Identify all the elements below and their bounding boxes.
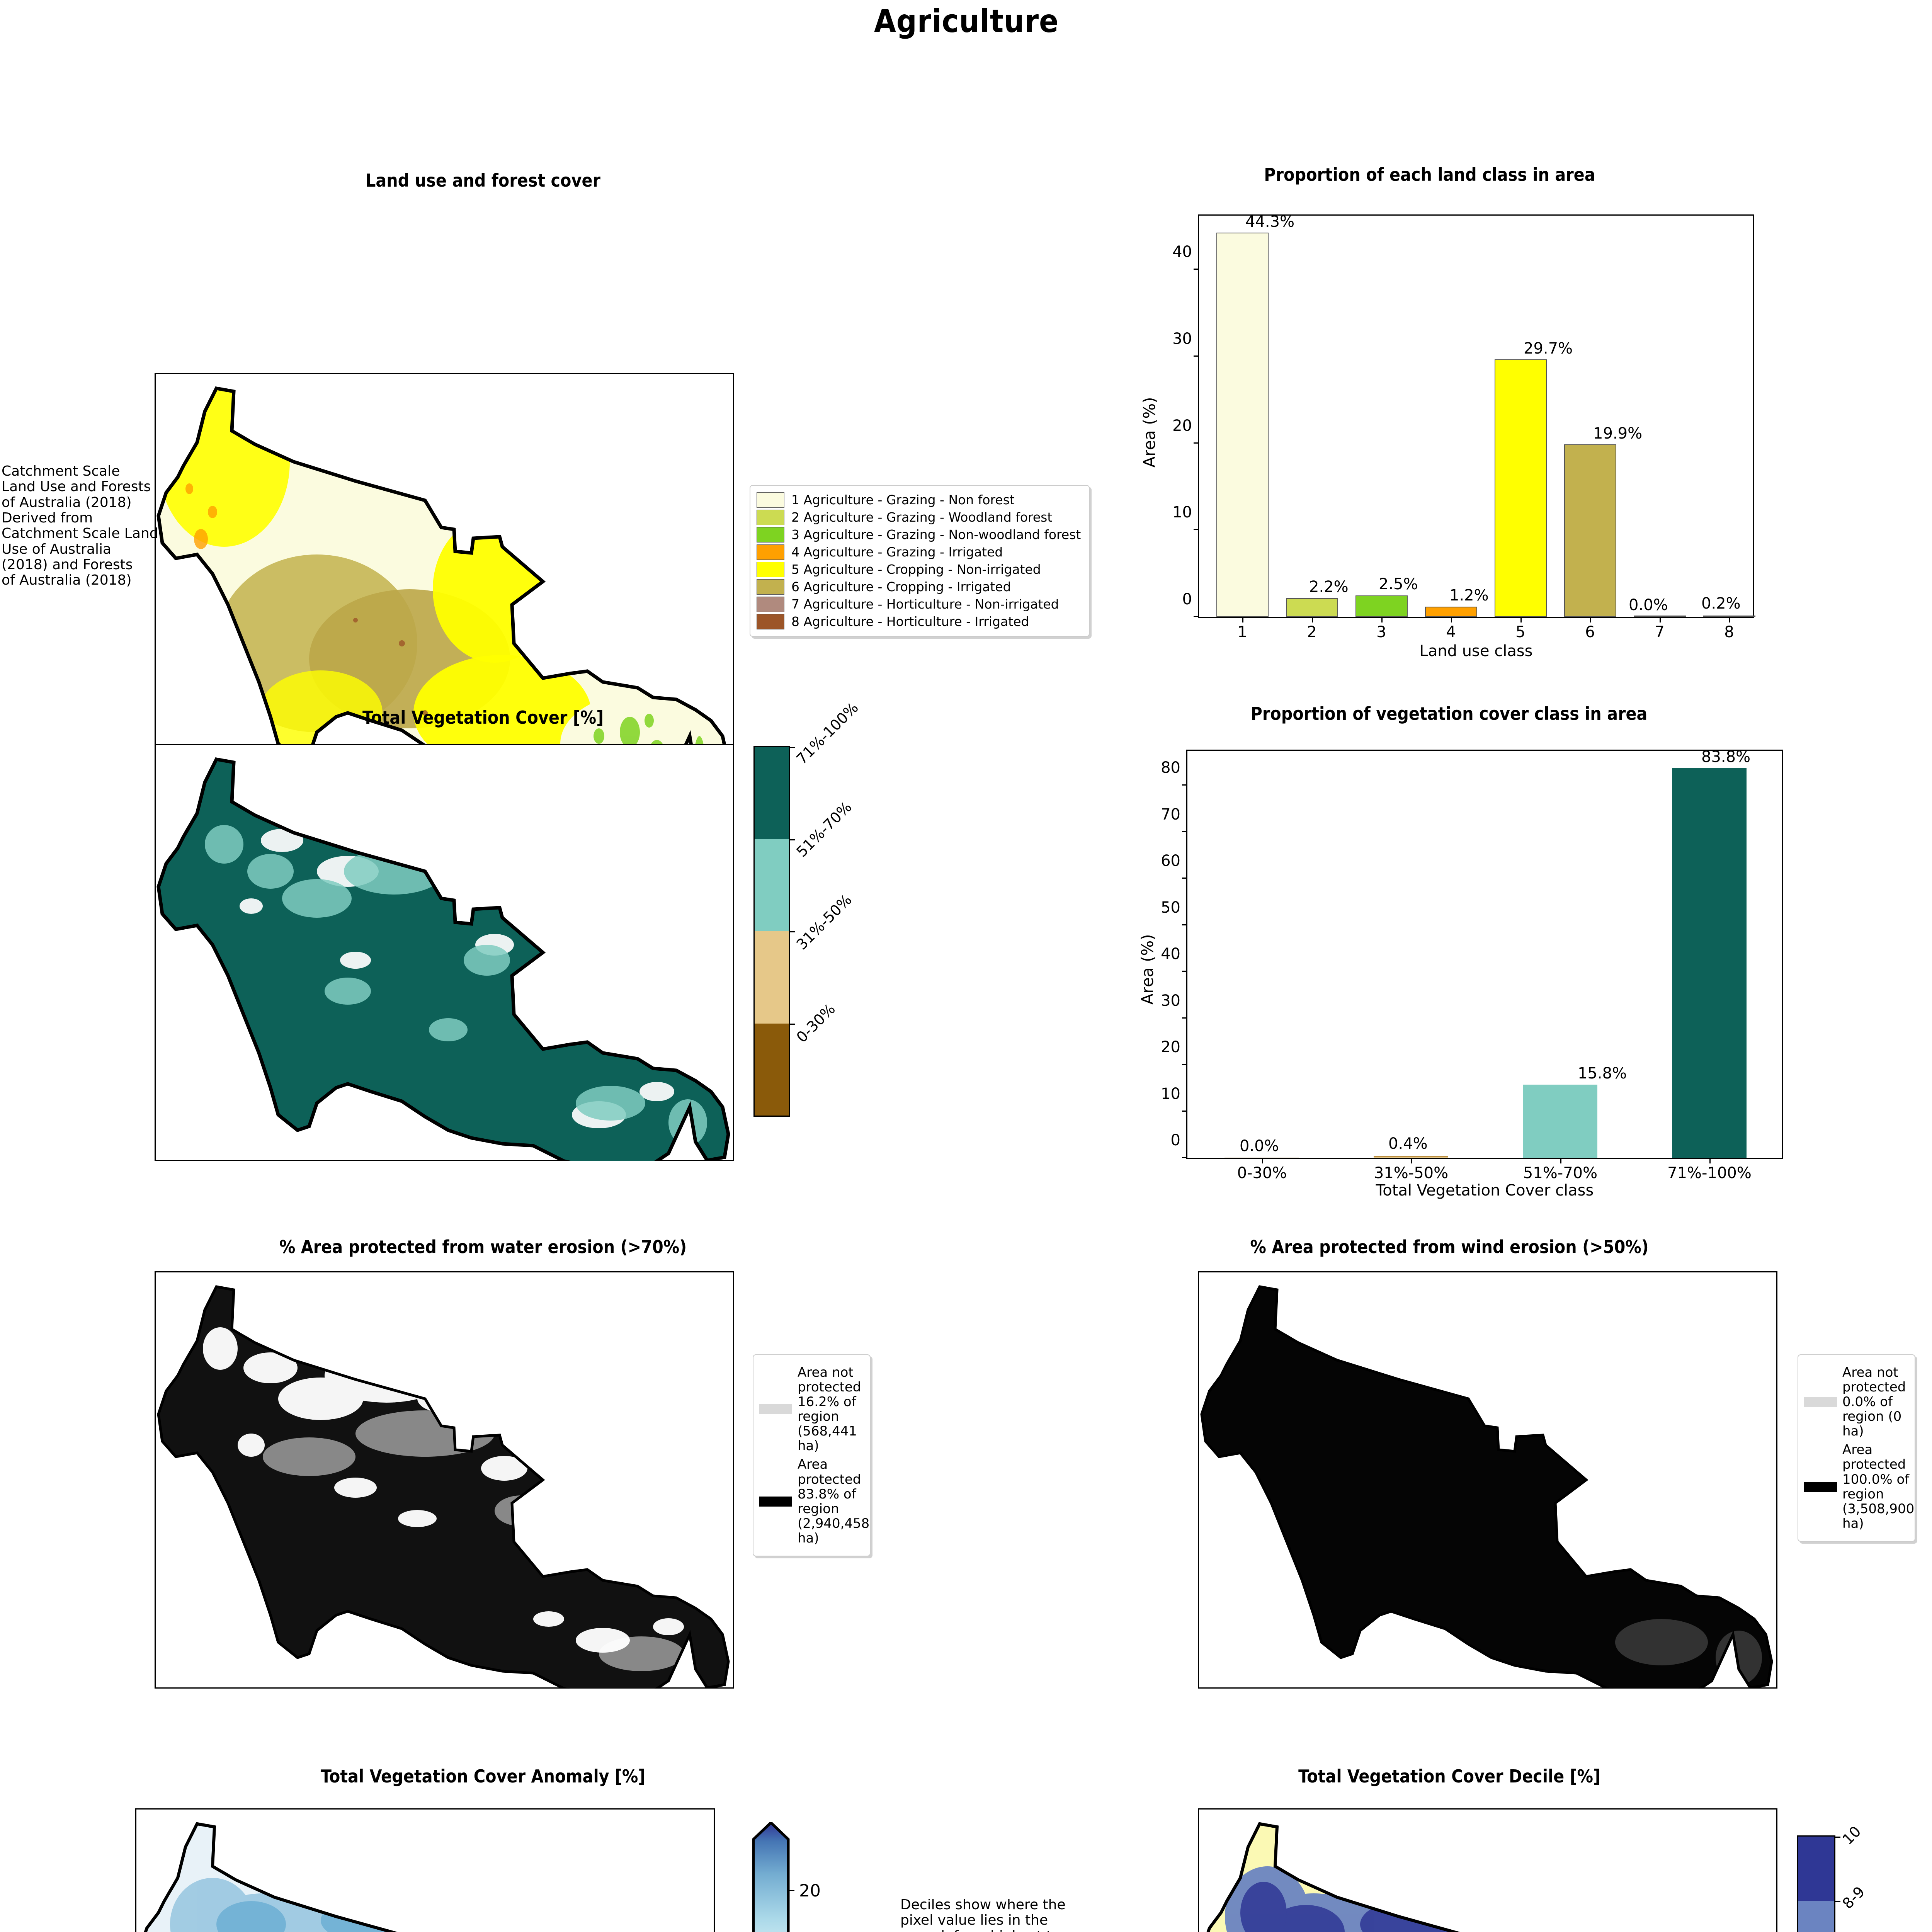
chart-veg-bars: 0 10 20 30 40 50 60 70 80 0.0% [1187,751,1782,1158]
bar-71-100[interactable] [1672,768,1747,1158]
legend-item: 2 Agriculture - Grazing - Woodland fores… [757,510,1083,525]
cb-tick [789,931,795,932]
veg-cover-map [155,744,734,1161]
bar-label-4: 1.2% [1449,587,1489,604]
anomaly-colorbar-wrap: 20 10 0 −10 −20 [750,1839,792,1932]
y-tickmark [1194,355,1199,357]
legend-label-3: 3 Agriculture - Grazing - Non-woodland f… [791,528,1081,542]
panel-land-use: Land use and forest cover [0,155,966,657]
legend-swatch-protected [1804,1482,1837,1492]
cb-seg-8-9 [1798,1901,1834,1932]
y-tickmark [1194,269,1199,270]
y-tickmark [1182,1017,1187,1019]
y-ticklabel-10: 10 [1172,503,1199,521]
panel-veg-cover: Total Vegetation Cover [%] [0,692,966,1194]
water-erosion-legend: Area not protected 16.2% of region (568,… [753,1354,871,1556]
legend-label-7: 7 Agriculture - Horticulture - Non-irrig… [791,598,1059,611]
legend-item: Area protected 83.8% of region (2,940,45… [759,1457,864,1545]
legend-label-8: 8 Agriculture - Horticulture - Irrigated [791,615,1029,629]
x-ticklabel-0-30: 0-30% [1237,1158,1287,1182]
cb-seg-10 [1798,1837,1834,1901]
legend-label-protected: Area protected 100.0% of region (3,508,9… [1842,1442,1914,1531]
cb-seg-51-70 [755,839,789,932]
legend-item: Area not protected 0.0% of region (0 ha) [1804,1365,1909,1439]
bar-label-2: 2.2% [1309,578,1349,596]
legend-swatch-8 [757,614,784,629]
chart-land-class-bars: 0 10 20 30 40 44.3% 2.2% 2.5% 1.2% 29 [1199,216,1753,617]
legend-label-4: 4 Agriculture - Grazing - Irrigated [791,546,1003,559]
panel-anomaly: Total Vegetation Cover Anomaly [%] [0,1750,966,1932]
cb-seg-31-50 [755,931,789,1024]
wind-erosion-title: % Area protected from wind erosion (>50%… [966,1236,1932,1257]
chart-land-class: Proportion of each land class in area Ar… [1101,155,1816,657]
bar-label-1: 44.3% [1245,213,1294,231]
page-title: Agriculture [0,3,1932,40]
y-tickmark [1194,529,1199,530]
legend-swatch-protected [759,1497,792,1507]
report-page: Agriculture Land use and forest cover [0,0,1932,1932]
legend-swatch-5 [757,562,784,577]
y-ticklabel-10: 10 [1161,1085,1187,1103]
x-ticklabel-31-50: 31%-50% [1374,1158,1448,1182]
panel-water-erosion: % Area protected from water erosion (>70… [0,1221,966,1704]
bar-label-51-70: 15.8% [1578,1065,1627,1082]
decile-map [1198,1808,1777,1932]
chart-veg-title: Proportion of vegetation cover class in … [1101,703,1797,724]
bar-6[interactable] [1564,444,1616,617]
legend-item: 5 Agriculture - Cropping - Non-irrigated [757,562,1083,577]
x-ticklabel-1: 1 [1237,617,1247,641]
chart-land-class-title: Proportion of each land class in area [1101,164,1758,185]
legend-label-not-protected: Area not protected 16.2% of region (568,… [798,1365,864,1453]
chart-veg-cover-class: Proportion of vegetation cover class in … [1101,696,1835,1198]
bar-label-7: 0.0% [1629,596,1668,614]
water-erosion-map [155,1271,734,1689]
land-use-source-note: Catchment Scale Land Use and Forests of … [2,464,168,588]
bar-2[interactable] [1286,598,1338,617]
decile-title: Total Vegetation Cover Decile [%] [966,1766,1932,1787]
x-ticklabel-71-100: 71%-100% [1667,1158,1752,1182]
y-tickmark [1182,784,1187,786]
x-ticklabel-7: 7 [1655,617,1664,641]
cb-label-20: 20 [799,1881,821,1901]
cb-tick [789,747,795,748]
cb-label-31-50: 31%-50% [793,891,855,953]
panel-decile: Total Vegetation Cover Decile [%] [966,1750,1932,1932]
legend-swatch-4 [757,544,784,560]
anomaly-map [135,1808,715,1932]
y-tickmark [1194,616,1199,617]
x-ticklabel-4: 4 [1446,617,1456,641]
legend-item: 3 Agriculture - Grazing - Non-woodland f… [757,527,1083,543]
y-ticklabel-40: 40 [1172,243,1199,261]
legend-label-2: 2 Agriculture - Grazing - Woodland fores… [791,511,1052,524]
cb-seg-0-30 [755,1024,789,1116]
cb-tick-20 [788,1890,794,1891]
y-ticklabel-20: 20 [1172,417,1199,435]
y-ticklabel-80: 80 [1161,759,1187,777]
decile-colorbar: 10 8-9 4-7 2-3 1 [1797,1835,1835,1932]
land-use-title: Land use and forest cover [0,170,966,191]
bar-label-71-100: 83.8% [1701,748,1750,766]
bar-label-31-50: 0.4% [1388,1135,1428,1153]
legend-swatch-not-protected [759,1404,792,1414]
y-tickmark [1182,1111,1187,1112]
legend-swatch-7 [757,597,784,612]
x-ticklabel-2: 2 [1307,617,1316,641]
y-ticklabel-20: 20 [1161,1038,1187,1056]
bar-4[interactable] [1425,607,1477,617]
legend-item: 1 Agriculture - Grazing - Non forest [757,492,1083,508]
y-tickmark [1182,971,1187,972]
legend-item: Area not protected 16.2% of region (568,… [759,1365,864,1453]
y-tickmark [1182,924,1187,925]
legend-item: 8 Agriculture - Horticulture - Irrigated [757,614,1083,629]
legend-label-protected: Area protected 83.8% of region (2,940,45… [798,1457,869,1545]
bar-5[interactable] [1495,359,1547,617]
cb-tick [789,1024,795,1025]
y-tickmark [1182,1064,1187,1065]
y-tickmark [1182,831,1187,832]
legend-label-6: 6 Agriculture - Cropping - Irrigated [791,580,1011,594]
y-ticklabel-30: 30 [1172,330,1199,348]
bar-51-70[interactable] [1523,1085,1597,1158]
panel-wind-erosion: % Area protected from wind erosion (>50%… [966,1221,1932,1704]
cb-label-0-30: 0-30% [793,1000,838,1046]
cb-seg-71-100 [755,747,789,839]
cb-label-10: 10 [1839,1823,1864,1848]
y-ticklabel-40: 40 [1161,945,1187,963]
land-use-legend: 1 Agriculture - Grazing - Non forest 2 A… [750,485,1090,637]
legend-label-1: 1 Agriculture - Grazing - Non forest [791,493,1015,507]
water-erosion-title: % Area protected from water erosion (>70… [0,1236,966,1257]
legend-swatch-3 [757,527,784,543]
legend-item: 4 Agriculture - Grazing - Irrigated [757,544,1083,560]
cb-label-8-9: 8-9 [1839,1883,1868,1912]
veg-cover-colorbar: 71%-100% 51%-70% 31%-50% 0-30% [753,746,790,1117]
bar-label-3: 2.5% [1379,575,1418,593]
bar-3[interactable] [1355,595,1408,617]
y-ticklabel-70: 70 [1161,806,1187,823]
legend-swatch-2 [757,510,784,525]
y-ticklabel-0: 0 [1171,1131,1187,1149]
x-ticklabel-51-70: 51%-70% [1523,1158,1597,1182]
y-ticklabel-50: 50 [1161,899,1187,917]
cb-label-51-70: 51%-70% [793,798,855,860]
veg-cover-title: Total Vegetation Cover [%] [0,707,966,728]
cb-tick [789,839,795,840]
chart-veg-ylabel: Area (%) [1138,934,1157,1005]
bar-label-5: 29.7% [1524,340,1573,357]
chart-veg-plot: 0 10 20 30 40 50 60 70 80 0.0% [1186,750,1783,1159]
y-ticklabel-0: 0 [1182,590,1199,608]
chart-land-class-xlabel: Land use class [1198,642,1754,660]
legend-swatch-1 [757,492,784,508]
y-tickmark [1182,1157,1187,1158]
anomaly-title: Total Vegetation Cover Anomaly [%] [0,1766,966,1787]
chart-veg-xlabel: Total Vegetation Cover class [1186,1182,1783,1199]
legend-item: 7 Agriculture - Horticulture - Non-irrig… [757,597,1083,612]
y-tickmark [1194,442,1199,444]
bar-label-0-30: 0.0% [1240,1137,1279,1155]
x-ticklabel-3: 3 [1376,617,1386,641]
x-ticklabel-5: 5 [1515,617,1525,641]
x-ticklabel-6: 6 [1585,617,1595,641]
y-ticklabel-30: 30 [1161,992,1187,1010]
decile-note: Deciles show where the pixel value lies … [900,1897,1066,1932]
legend-item: Area protected 100.0% of region (3,508,9… [1804,1442,1909,1531]
legend-item: 6 Agriculture - Cropping - Irrigated [757,579,1083,595]
bar-label-6: 19.9% [1593,425,1642,442]
bar-label-8: 0.2% [1701,595,1741,612]
y-tickmark [1182,878,1187,879]
legend-swatch-6 [757,579,784,595]
legend-label-5: 5 Agriculture - Cropping - Non-irrigated [791,563,1041,577]
x-ticklabel-8: 8 [1724,617,1734,641]
bar-1[interactable] [1216,233,1269,617]
legend-swatch-not-protected [1804,1397,1837,1407]
y-ticklabel-60: 60 [1161,852,1187,870]
wind-erosion-map [1198,1271,1777,1689]
chart-land-class-plot: 0 10 20 30 40 44.3% 2.2% 2.5% 1.2% 29 [1198,214,1754,618]
legend-label-not-protected: Area not protected 0.0% of region (0 ha) [1842,1365,1909,1439]
chart-land-class-ylabel: Area (%) [1140,397,1159,468]
wind-erosion-legend: Area not protected 0.0% of region (0 ha)… [1798,1354,1915,1542]
